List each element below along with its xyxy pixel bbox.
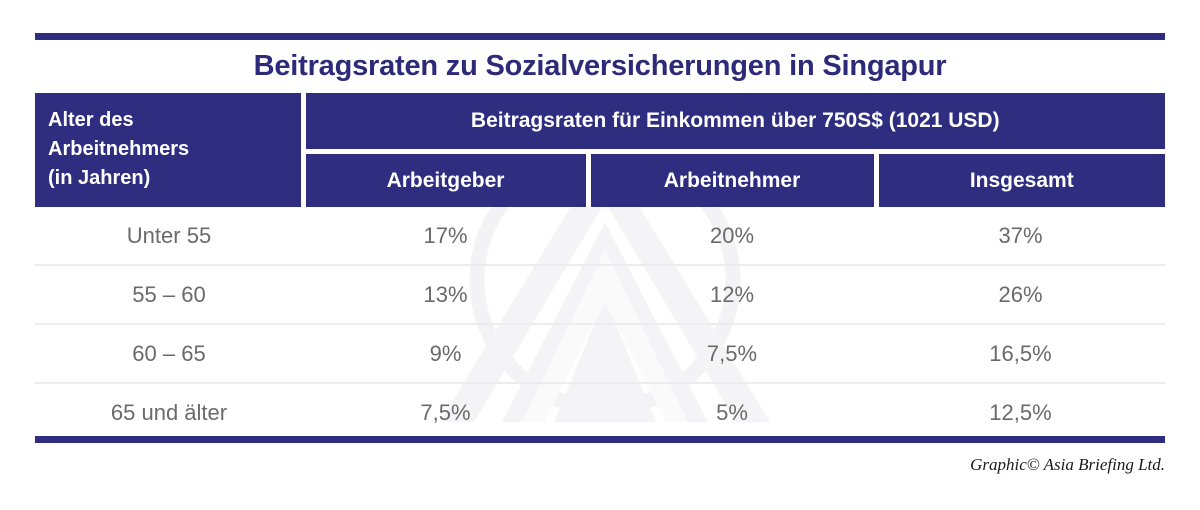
- table-row: 65 und älter 7,5% 5% 12,5%: [35, 383, 1165, 441]
- table-body: Unter 55 17% 20% 37% 55 – 60 13% 12% 26%…: [35, 207, 1165, 441]
- cell-age: 60 – 65: [35, 324, 303, 383]
- cell-employee: 7,5%: [588, 324, 876, 383]
- cell-age: 65 und älter: [35, 383, 303, 441]
- age-header-line-3: (in Jahren): [48, 164, 301, 193]
- table-row: 60 – 65 9% 7,5% 16,5%: [35, 324, 1165, 383]
- cell-employee: 12%: [588, 265, 876, 324]
- page-title: Beitragsraten zu Sozialversicherungen in…: [35, 48, 1165, 84]
- cell-total: 37%: [876, 207, 1165, 265]
- cell-total: 16,5%: [876, 324, 1165, 383]
- column-header-total: Insgesamt: [876, 152, 1165, 208]
- table-row: Unter 55 17% 20% 37%: [35, 207, 1165, 265]
- contribution-rates-table: Alter des Arbeitnehmers (in Jahren) Beit…: [35, 93, 1165, 441]
- column-header-age: Alter des Arbeitnehmers (in Jahren): [35, 93, 303, 207]
- cell-employer: 13%: [303, 265, 588, 324]
- age-header-line-2: Arbeitnehmers: [48, 135, 301, 164]
- age-header-line-1: Alter des: [48, 106, 301, 135]
- cell-age: Unter 55: [35, 207, 303, 265]
- cell-employer: 7,5%: [303, 383, 588, 441]
- table-head: Alter des Arbeitnehmers (in Jahren) Beit…: [35, 93, 1165, 207]
- header-row-group: Alter des Arbeitnehmers (in Jahren) Beit…: [35, 93, 1165, 152]
- cell-employee: 20%: [588, 207, 876, 265]
- column-header-employer: Arbeitgeber: [303, 152, 588, 208]
- cell-employer: 17%: [303, 207, 588, 265]
- cell-total: 26%: [876, 265, 1165, 324]
- top-rule: [35, 33, 1165, 40]
- table-row: 55 – 60 13% 12% 26%: [35, 265, 1165, 324]
- column-header-group-income: Beitragsraten für Einkommen über 750S$ (…: [303, 93, 1165, 152]
- rates-table-container: Alter des Arbeitnehmers (in Jahren) Beit…: [35, 93, 1165, 433]
- credit-line: Graphic© Asia Briefing Ltd.: [970, 455, 1165, 475]
- cell-total: 12,5%: [876, 383, 1165, 441]
- cell-employee: 5%: [588, 383, 876, 441]
- cell-age: 55 – 60: [35, 265, 303, 324]
- column-header-employee: Arbeitnehmer: [588, 152, 876, 208]
- infographic-table-card: Beitragsraten zu Sozialversicherungen in…: [0, 0, 1200, 510]
- cell-employer: 9%: [303, 324, 588, 383]
